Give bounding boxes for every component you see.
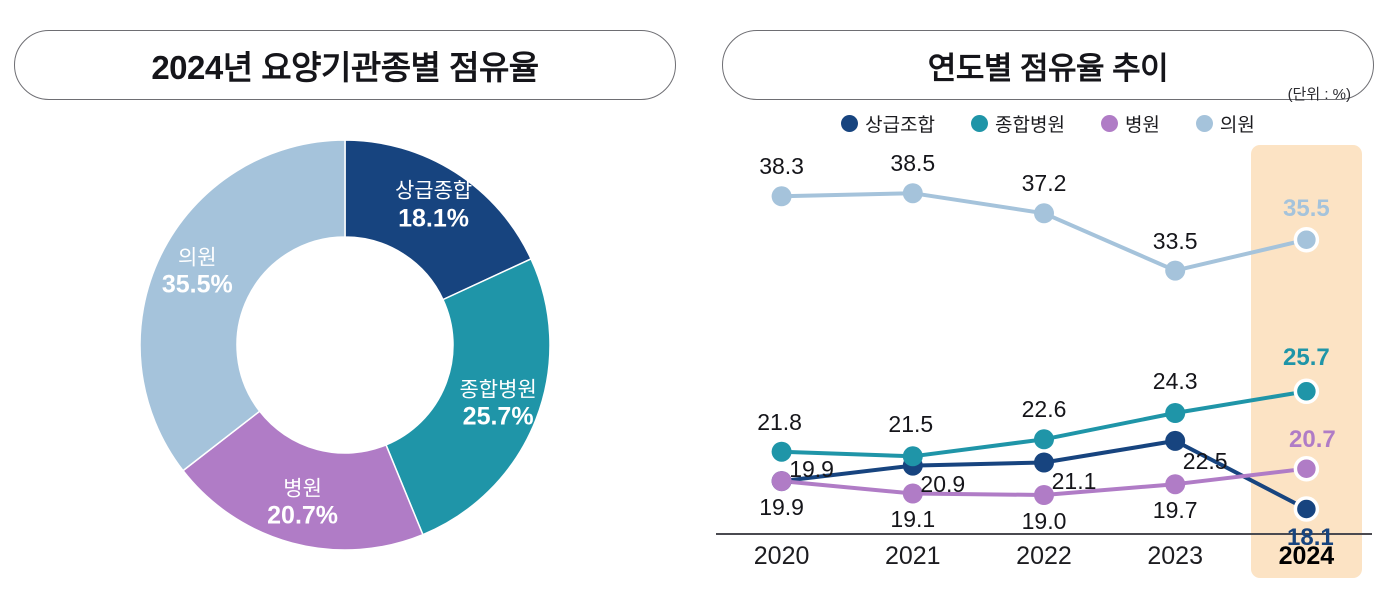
data-point-label: 38.3 xyxy=(759,153,804,180)
data-point[interactable] xyxy=(903,183,923,203)
data-point-label: 19.1 xyxy=(890,506,935,533)
data-point-label: 22.6 xyxy=(1022,396,1067,423)
donut-chart-svg xyxy=(130,130,560,560)
data-point[interactable] xyxy=(1295,498,1317,520)
donut-slice-3[interactable] xyxy=(140,140,345,471)
data-point-label: 37.2 xyxy=(1022,170,1067,197)
data-point-label: 19.9 xyxy=(789,456,834,483)
data-point-label: 21.5 xyxy=(888,411,933,438)
line-chart: 20202021202220232024 19.920.921.122.518.… xyxy=(700,130,1390,585)
data-point-label: 22.5 xyxy=(1183,448,1228,475)
data-point-label: 20.7 xyxy=(1289,426,1336,454)
legend-dot-icon xyxy=(1196,115,1213,132)
data-point[interactable] xyxy=(1034,429,1054,449)
data-point-label: 18.1 xyxy=(1287,524,1334,552)
data-point[interactable] xyxy=(1295,229,1317,251)
data-point[interactable] xyxy=(1295,380,1317,402)
x-axis-tick-2021: 2021 xyxy=(847,542,978,571)
data-point-label: 19.9 xyxy=(759,494,804,521)
data-point[interactable] xyxy=(1165,403,1185,423)
x-axis-tick-2022: 2022 xyxy=(978,542,1109,571)
data-point-label: 21.8 xyxy=(757,409,802,436)
donut-slice-1[interactable] xyxy=(386,259,550,535)
legend-dot-icon xyxy=(841,115,858,132)
data-point-label: 35.5 xyxy=(1283,195,1330,223)
data-point[interactable] xyxy=(772,186,792,206)
infographic-root: 2024년 요양기관종별 점유율 상급종합 18.1% 종합병원 25.7% 병… xyxy=(0,0,1400,603)
data-point-label: 19.7 xyxy=(1153,497,1198,524)
data-point-label: 33.5 xyxy=(1153,228,1198,255)
data-point-label: 21.1 xyxy=(1052,468,1097,495)
data-point[interactable] xyxy=(1165,474,1185,494)
data-point-label: 38.5 xyxy=(890,150,935,177)
data-point-label: 19.0 xyxy=(1022,508,1067,535)
unit-note: (단위 : %) xyxy=(1288,83,1351,104)
data-point[interactable] xyxy=(903,446,923,466)
left-panel-title-pill: 2024년 요양기관종별 점유율 xyxy=(14,30,676,100)
data-point-label: 24.3 xyxy=(1153,368,1198,395)
right-panel-title-pill: 연도별 점유율 추이 (단위 : %) xyxy=(722,30,1374,100)
legend-dot-icon xyxy=(971,115,988,132)
data-point[interactable] xyxy=(1165,261,1185,281)
right-panel-title: 연도별 점유율 추이 xyxy=(928,43,1168,88)
x-axis-tick-2020: 2020 xyxy=(716,542,847,571)
data-point-label: 20.9 xyxy=(920,471,965,498)
legend-dot-icon xyxy=(1101,115,1118,132)
donut-chart: 상급종합 18.1% 종합병원 25.7% 병원 20.7% 의원 35.5% xyxy=(130,130,560,560)
x-axis-tick-2023: 2023 xyxy=(1110,542,1241,571)
data-point-label: 25.7 xyxy=(1283,344,1330,372)
left-panel-title: 2024년 요양기관종별 점유율 xyxy=(151,41,538,89)
data-point[interactable] xyxy=(1034,203,1054,223)
data-point[interactable] xyxy=(1295,458,1317,480)
